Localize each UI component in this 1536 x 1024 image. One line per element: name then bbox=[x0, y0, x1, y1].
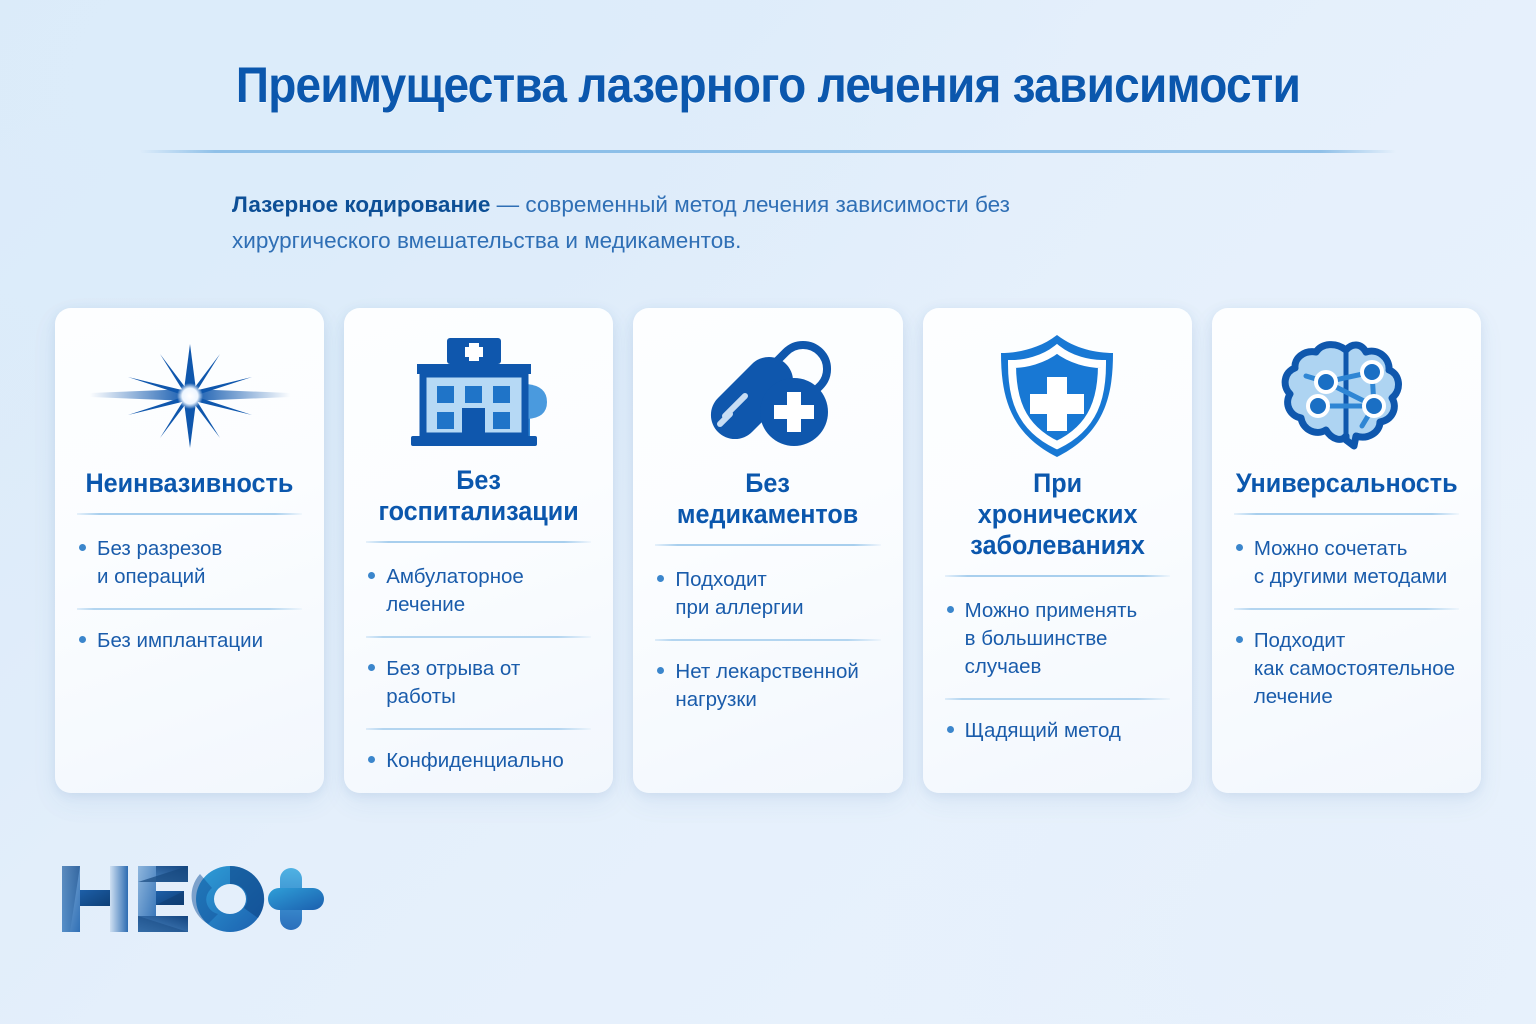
benefit-card-no-medication[interactable]: Без медикаментов Подходит при аллергии Н… bbox=[633, 308, 902, 793]
bullet-dot-icon bbox=[368, 664, 375, 671]
bullet-text: Конфиденциально bbox=[386, 747, 564, 775]
list-item: Подходит как самостоятельное лечение bbox=[1234, 608, 1459, 711]
bullet-list: Можно сочетать с другими методами Подход… bbox=[1234, 535, 1459, 711]
bullet-text: Можно применять в большинстве случаев bbox=[965, 597, 1170, 681]
bullet-dot-icon bbox=[368, 572, 375, 579]
card-title: Универсальность bbox=[1236, 468, 1458, 499]
subtitle-lead: Лазерное кодирование bbox=[232, 192, 490, 217]
bullet-text: Щадящий метод bbox=[965, 717, 1121, 745]
benefit-card-universality[interactable]: Универсальность Можно сочетать с другими… bbox=[1212, 308, 1481, 793]
pills-icon bbox=[698, 338, 838, 454]
list-item: Подходит при аллергии bbox=[655, 566, 880, 622]
bullet-text: Можно сочетать с другими методами bbox=[1254, 535, 1447, 591]
card-divider bbox=[945, 575, 1170, 577]
shield-cross-icon bbox=[995, 338, 1119, 454]
bullet-list: Подходит при аллергии Нет лекарственной … bbox=[655, 566, 880, 714]
hospital-icon bbox=[399, 338, 559, 451]
card-divider bbox=[77, 513, 302, 515]
bullet-dot-icon bbox=[657, 575, 664, 582]
bullet-text: Нет лекарственной нагрузки bbox=[675, 658, 858, 714]
list-item: Можно применять в большинстве случаев bbox=[945, 597, 1170, 681]
brain-network-icon bbox=[1276, 338, 1416, 454]
bullet-dot-icon bbox=[947, 606, 954, 613]
bullet-dot-icon bbox=[79, 544, 86, 551]
bullet-list: Без разрезов и операций Без имплантации bbox=[77, 535, 302, 655]
bullet-text: Подходит при аллергии bbox=[675, 566, 803, 622]
bullet-text: Без имплантации bbox=[97, 627, 263, 655]
bullet-list: Амбулаторное лечение Без отрыва от работ… bbox=[366, 563, 591, 775]
bullet-text: Амбулаторное лечение bbox=[386, 563, 524, 619]
brand-logo[interactable] bbox=[58, 858, 328, 940]
list-item: Без имплантации bbox=[77, 608, 302, 655]
bullet-dot-icon bbox=[1236, 544, 1243, 551]
page-title: Преимущества лазерного лечения зависимос… bbox=[61, 56, 1474, 114]
bullet-text: Подходит как самостоятельное лечение bbox=[1254, 627, 1455, 711]
card-divider bbox=[655, 544, 880, 546]
page-header: Преимущества лазерного лечения зависимос… bbox=[0, 0, 1536, 153]
bullet-dot-icon bbox=[368, 756, 375, 763]
card-divider bbox=[366, 541, 591, 543]
list-item: Нет лекарственной нагрузки bbox=[655, 639, 880, 714]
list-item: Щадящий метод bbox=[945, 698, 1170, 745]
benefit-cards: Неинвазивность Без разрезов и операций Б… bbox=[55, 308, 1481, 793]
bullet-dot-icon bbox=[657, 667, 664, 674]
bullet-text: Без разрезов и операций bbox=[97, 535, 222, 591]
list-item: Конфиденциально bbox=[366, 728, 591, 775]
card-title: Без госпитализации bbox=[372, 465, 586, 527]
bullet-dot-icon bbox=[947, 726, 954, 733]
laser-burst-icon bbox=[90, 338, 290, 454]
card-title: Неинвазивность bbox=[86, 468, 294, 499]
benefit-card-no-hospitalization[interactable]: Без госпитализации Амбулаторное лечение … bbox=[344, 308, 613, 793]
bullet-text: Без отрыва от работы bbox=[386, 655, 591, 711]
subtitle: Лазерное кодирование — современный метод… bbox=[232, 187, 1162, 260]
bullet-dot-icon bbox=[1236, 636, 1243, 643]
benefit-card-noninvasive[interactable]: Неинвазивность Без разрезов и операций Б… bbox=[55, 308, 324, 793]
subtitle-dash: — bbox=[490, 192, 525, 217]
card-title: Без медикаментов bbox=[661, 468, 875, 530]
list-item: Можно сочетать с другими методами bbox=[1234, 535, 1459, 591]
list-item: Без разрезов и операций bbox=[77, 535, 302, 591]
list-item: Амбулаторное лечение bbox=[366, 563, 591, 619]
title-divider bbox=[140, 150, 1396, 153]
list-item: Без отрыва от работы bbox=[366, 636, 591, 711]
bullet-dot-icon bbox=[79, 636, 86, 643]
benefit-card-chronic-conditions[interactable]: При хронических заболеваниях Можно приме… bbox=[923, 308, 1192, 793]
card-title: При хронических заболеваниях bbox=[950, 468, 1164, 561]
bullet-list: Можно применять в большинстве случаев Ща… bbox=[945, 597, 1170, 745]
card-divider bbox=[1234, 513, 1459, 515]
